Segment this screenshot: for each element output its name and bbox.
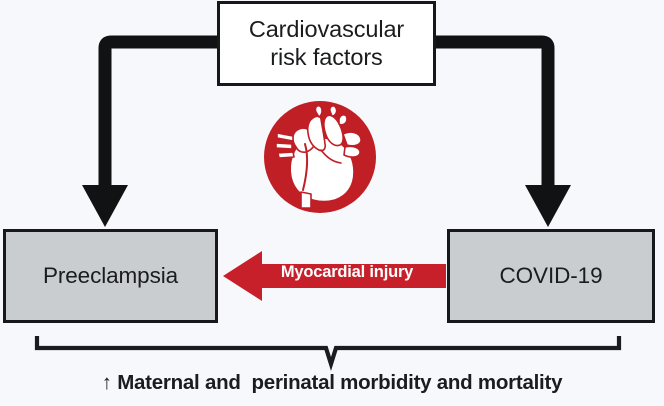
outcome-caption: ↑ Maternal and perinatal morbidity and m… <box>0 371 664 395</box>
anatomical-heart-icon <box>261 100 379 214</box>
arrow-myocardial-injury <box>223 251 446 301</box>
outcome-brace <box>37 336 619 364</box>
node-covid19[interactable]: COVID-19 <box>447 229 655 323</box>
node-preeclampsia[interactable]: Preeclampsia <box>3 229 218 323</box>
node-cardiovascular-risk-factors[interactable]: Cardiovascular risk factors <box>217 1 436 86</box>
heart-icon-svg <box>261 100 379 214</box>
node-label-preeclampsia: Preeclampsia <box>43 263 178 290</box>
diagram-canvas: Cardiovascular risk factors Preeclampsia… <box>0 0 664 406</box>
arrow-risk-to-covid <box>436 42 571 227</box>
arrow-risk-to-preeclampsia <box>82 42 217 227</box>
node-label-risk-factors: Cardiovascular risk factors <box>249 16 404 71</box>
node-label-covid19: COVID-19 <box>500 263 603 290</box>
